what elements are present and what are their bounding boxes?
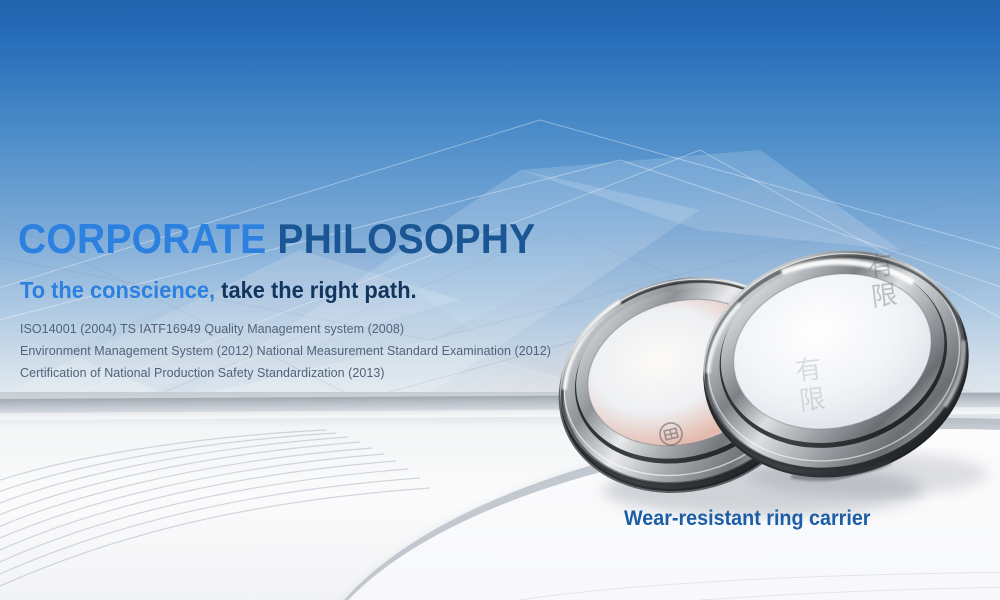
- corporate-philosophy-banner: 有限 有限 CORPORATE PHILOSOPHY To the consci…: [0, 0, 1000, 600]
- headline-secondary: PHILOSOPHY: [266, 215, 535, 262]
- certification-item: Environment Management System (2012) Nat…: [20, 340, 638, 362]
- subheadline-primary: To the conscience,: [20, 277, 215, 303]
- copy-block: CORPORATE PHILOSOPHY To the conscience, …: [18, 214, 638, 384]
- page-title: CORPORATE PHILOSOPHY: [18, 214, 595, 264]
- headline-primary: CORPORATE: [18, 215, 266, 262]
- certification-list: ISO14001 (2004) TS IATF16949 Quality Man…: [20, 318, 638, 384]
- subheadline: To the conscience, take the right path.: [20, 276, 607, 304]
- subheadline-secondary: take the right path.: [215, 277, 417, 303]
- product-caption: Wear-resistant ring carrier: [624, 506, 871, 532]
- certification-item: Certification of National Production Saf…: [20, 362, 638, 384]
- certification-item: ISO14001 (2004) TS IATF16949 Quality Man…: [20, 318, 638, 340]
